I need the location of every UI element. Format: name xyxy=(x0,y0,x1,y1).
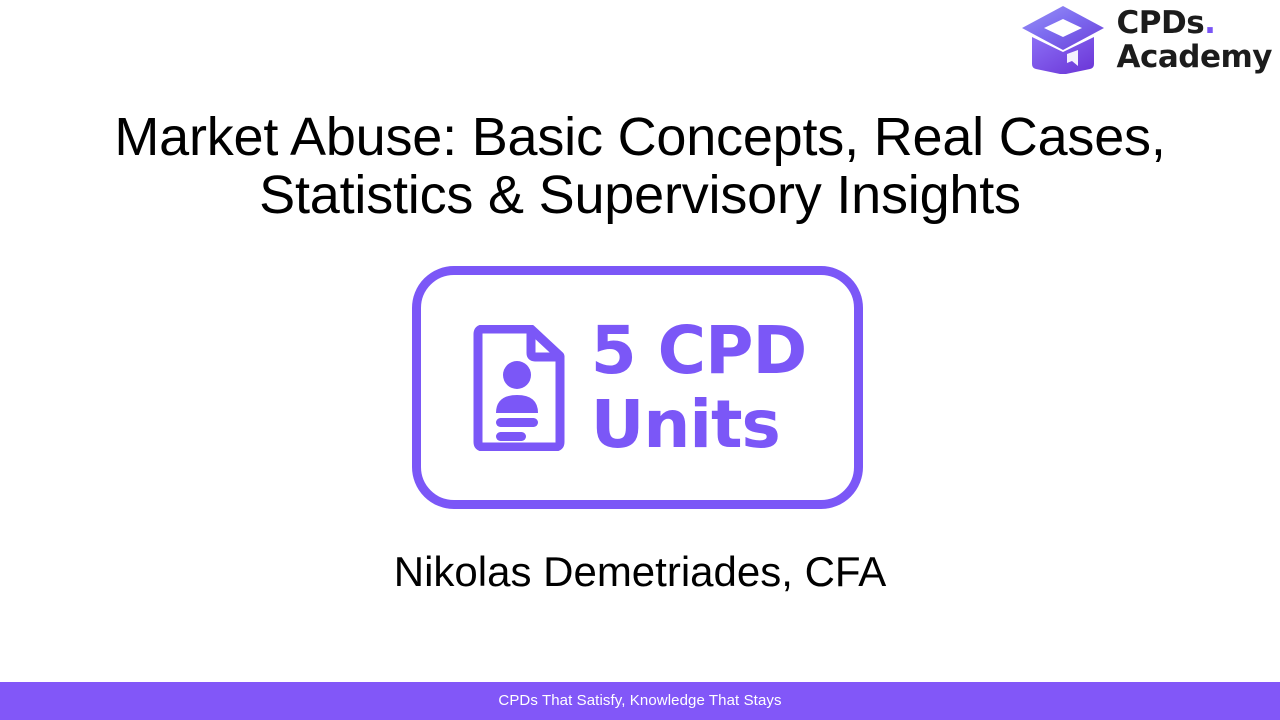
presentation-slide: CPDs. Academy Market Abuse: Basic Concep… xyxy=(0,0,1280,720)
footer-bar: CPDs That Satisfy, Knowledge That Stays xyxy=(0,682,1280,720)
brand-name-cpds: CPDs xyxy=(1116,5,1204,41)
cpd-units-text: 5 CPD Units xyxy=(591,314,807,462)
cpd-units-line-2: Units xyxy=(591,386,780,463)
presenter-name: Nikolas Demetriades, CFA xyxy=(0,546,1280,598)
graduation-cap-logo-icon xyxy=(1020,4,1106,76)
brand-line-1: CPDs. xyxy=(1116,8,1272,39)
cpd-units-badge: 5 CPD Units xyxy=(412,266,863,509)
page-title: Market Abuse: Basic Concepts, Real Cases… xyxy=(90,108,1190,224)
brand-line-2: Academy xyxy=(1116,42,1272,73)
brand-wordmark: CPDs. Academy xyxy=(1116,8,1272,73)
footer-tagline: CPDs That Satisfy, Knowledge That Stays xyxy=(498,692,781,710)
cpd-units-line-1: 5 CPD xyxy=(591,312,807,389)
brand-accent-dot: . xyxy=(1204,5,1215,41)
brand-logo: CPDs. Academy xyxy=(1020,4,1272,76)
document-person-icon xyxy=(469,325,565,451)
